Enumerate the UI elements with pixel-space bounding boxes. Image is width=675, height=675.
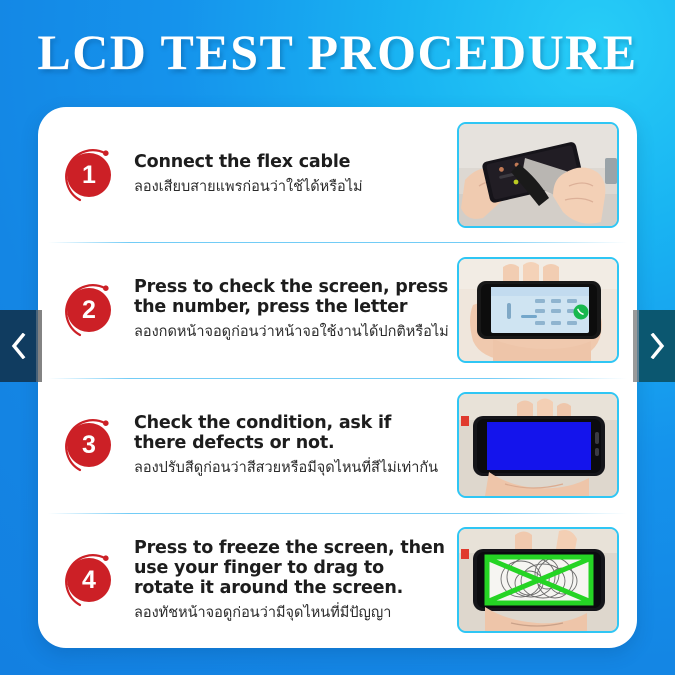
step-image-4	[457, 527, 619, 633]
next-slide-button[interactable]	[639, 310, 675, 382]
chevron-left-icon	[11, 333, 26, 359]
step-subtitle-4: ลองทัชหน้าจอดูก่อนว่ามีจุดไหนที่มีปัญญา	[134, 603, 449, 623]
step-title-3: Check the condition, ask if there defect…	[134, 413, 449, 453]
step-number-badge-3: 3	[58, 414, 120, 476]
step-text-1: Connect the flex cable ลองเสียบสายแพรก่อ…	[134, 152, 457, 197]
step-text-4: Press to freeze the screen, then use you…	[134, 538, 457, 623]
step-text-2: Press to check the screen, press the num…	[134, 277, 457, 342]
step-number-3: 3	[67, 423, 111, 467]
step-image-1	[457, 122, 619, 228]
step-number-badge-2: 2	[58, 279, 120, 341]
step-number-4: 4	[67, 558, 111, 602]
step-title-1: Connect the flex cable	[134, 152, 449, 172]
procedure-card: 1 Connect the flex cable ลองเสียบสายแพรก…	[38, 107, 637, 648]
step-text-3: Check the condition, ask if there defect…	[134, 413, 457, 478]
page-title-wrap: LCD TEST PROCEDURE	[0, 22, 675, 82]
step-title-2: Press to check the screen, press the num…	[134, 277, 449, 317]
page-title: LCD TEST PROCEDURE	[0, 22, 675, 82]
step-row-3: 3 Check the condition, ask if there defe…	[38, 378, 637, 513]
step-subtitle-3: ลองปรับสีดูก่อนว่าสีสวยหรือมีจุดไหนที่สี…	[134, 458, 449, 478]
step-number-2: 2	[67, 288, 111, 332]
prev-slide-button[interactable]	[0, 310, 36, 382]
step-image-3	[457, 392, 619, 498]
step-number-badge-4: 4	[58, 549, 120, 611]
step-title-4: Press to freeze the screen, then use you…	[134, 538, 449, 598]
step-list: 1 Connect the flex cable ลองเสียบสายแพรก…	[38, 107, 637, 648]
step-row-1: 1 Connect the flex cable ลองเสียบสายแพรก…	[38, 107, 637, 242]
step-number-badge-1: 1	[58, 144, 120, 206]
step-subtitle-2: ลองกดหน้าจอดูก่อนว่าหน้าจอใช้งานได้ปกติห…	[134, 322, 449, 342]
chevron-right-icon	[650, 333, 665, 359]
step-image-2	[457, 257, 619, 363]
step-row-2: 2 Press to check the screen, press the n…	[38, 242, 637, 377]
step-number-1: 1	[67, 153, 111, 197]
step-row-4: 4 Press to freeze the screen, then use y…	[38, 513, 637, 648]
slide-root: LCD TEST PROCEDURE 1 Connect the flex ca…	[0, 0, 675, 675]
step-subtitle-1: ลองเสียบสายแพรก่อนว่าใช้ได้หรือไม่	[134, 177, 449, 197]
